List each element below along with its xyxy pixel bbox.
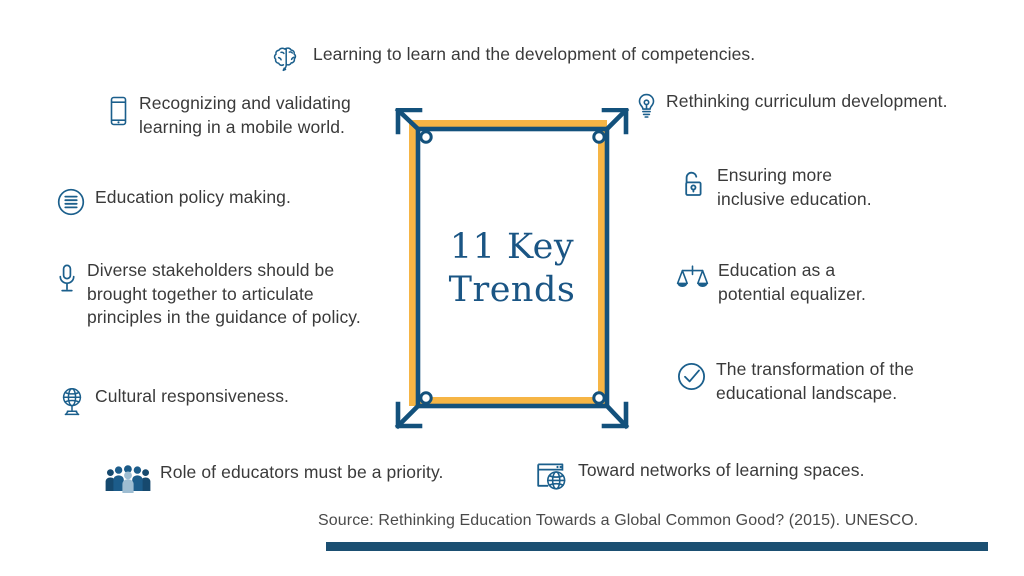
people-group-icon	[105, 463, 151, 493]
trend-item-networks: Toward networks of learning spaces.	[536, 459, 865, 493]
trend-text: Education policy making.	[95, 186, 291, 210]
frame-accent-band	[409, 120, 607, 406]
browser-globe-icon	[536, 462, 569, 493]
check-circle-icon	[676, 361, 707, 392]
trend-text: Rethinking curriculum development.	[666, 90, 948, 114]
trend-text: Role of educators must be a priority.	[160, 461, 444, 485]
trend-text: Diverse stakeholders should be brought t…	[87, 259, 361, 330]
trend-item-policy-making: Education policy making.	[56, 186, 291, 217]
trend-text: The transformation of the educational la…	[716, 358, 914, 405]
brain-icon	[272, 44, 304, 74]
frame-corner-arrows	[398, 110, 626, 426]
trend-text: Education as a potential equalizer.	[718, 259, 866, 306]
trend-text: Learning to learn and the development of…	[313, 43, 755, 67]
open-padlock-icon	[678, 170, 708, 199]
trend-item-transformation: The transformation of the educational la…	[676, 358, 914, 405]
trend-item-stakeholders: Diverse stakeholders should be brought t…	[56, 259, 361, 330]
source-citation: Source: Rethinking Education Towards a G…	[318, 512, 918, 530]
frame-graphic	[393, 108, 631, 430]
infographic-canvas: Learning to learn and the development of…	[0, 0, 1024, 576]
frame-corner-dots	[421, 132, 604, 403]
balance-scales-icon	[676, 264, 709, 290]
globe-stand-icon	[58, 386, 86, 418]
trend-text: Cultural responsiveness.	[95, 385, 289, 409]
trend-item-learning-to-learn: Learning to learn and the development of…	[272, 43, 755, 74]
tablet-icon	[107, 95, 130, 128]
trend-text: Ensuring more inclusive education.	[717, 164, 872, 211]
trend-item-cultural: Cultural responsiveness.	[58, 385, 289, 418]
trend-item-equalizer: Education as a potential equalizer.	[676, 259, 866, 306]
lightbulb-icon	[636, 92, 657, 120]
stacked-layers-circle-icon	[56, 187, 86, 217]
trend-item-inclusive: Ensuring more inclusive education.	[678, 164, 872, 211]
frame-navy-rect	[418, 129, 607, 406]
footer-bar	[326, 542, 988, 551]
trend-text: Toward networks of learning spaces.	[578, 459, 865, 483]
trend-item-educators: Role of educators must be a priority.	[105, 461, 444, 493]
center-frame: 11 Key Trends	[393, 108, 631, 430]
trend-text: Recognizing and validating learning in a…	[139, 92, 351, 139]
microphone-icon	[56, 263, 78, 296]
trend-item-curriculum: Rethinking curriculum development.	[636, 90, 948, 120]
trend-item-mobile-world: Recognizing and validating learning in a…	[107, 92, 351, 139]
